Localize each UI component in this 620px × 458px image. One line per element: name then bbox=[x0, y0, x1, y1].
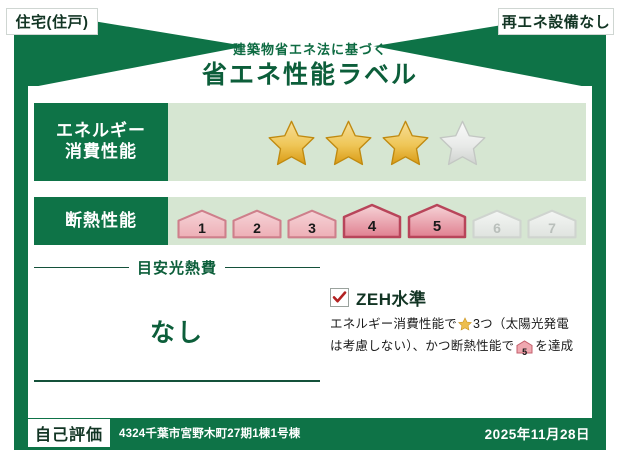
rule-right bbox=[225, 267, 320, 268]
issue-date: 2025年11月28日 bbox=[485, 423, 590, 443]
insulation-level-badge: 6 bbox=[471, 209, 523, 239]
insulation-level-value: 5 bbox=[406, 218, 468, 235]
energy-label-line1: エネルギー bbox=[56, 121, 146, 142]
zeh-description: エネルギー消費性能で 3つ（太陽光発電 は考慮しない）、かつ断熱性能で 5を達成 bbox=[330, 315, 578, 361]
rule-left bbox=[34, 267, 129, 268]
star-filled-icon bbox=[324, 119, 373, 166]
star-empty-icon bbox=[438, 119, 487, 166]
evaluation-type-tag: 自己評価 bbox=[28, 419, 110, 447]
insulation-level-value: 4 bbox=[341, 218, 403, 235]
utility-cost-section: 目安光熱費 なし bbox=[34, 253, 320, 413]
renewable-energy-tag: 再エネ設備なし bbox=[498, 8, 614, 35]
insulation-level-badge: 1 bbox=[176, 209, 228, 239]
insulation-level-value: 1 bbox=[176, 220, 228, 236]
insulation-level-badge: 4 bbox=[341, 203, 403, 239]
energy-rating-value bbox=[168, 103, 586, 181]
building-type-tag: 住宅(住戸) bbox=[6, 8, 98, 35]
inline-star-icon bbox=[458, 317, 472, 337]
utility-cost-title: 目安光熱費 bbox=[137, 257, 217, 278]
insulation-performance-row: 断熱性能 1234567 bbox=[34, 197, 586, 245]
label-footer: 自己評価 4324千葉市宮野木町27期1棟1号棟 2025年11月28日 bbox=[14, 416, 606, 450]
insulation-level-badges: 1234567 bbox=[176, 203, 578, 239]
insulation-rating-value: 1234567 bbox=[168, 197, 586, 245]
zeh-title: ZEH水準 bbox=[356, 285, 427, 310]
insulation-level-badge: 2 bbox=[231, 209, 283, 239]
star-filled-icon bbox=[267, 119, 316, 166]
check-icon bbox=[332, 290, 347, 305]
zeh-section: ZEH水準 エネルギー消費性能で 3つ（太陽光発電 は考慮しない）、かつ断熱性能… bbox=[330, 285, 578, 361]
property-address: 4324千葉市宮野木町27期1棟1号棟 bbox=[119, 425, 300, 441]
energy-performance-label-block: エネルギー 消費性能 bbox=[34, 103, 168, 181]
insulation-label: 断熱性能 bbox=[65, 211, 137, 232]
utility-cost-value: なし bbox=[34, 313, 320, 349]
energy-performance-label: 住宅(住戸) 再エネ設備なし 建築物省エネ法に基づく 省エネ性能ラベル エネルギ… bbox=[0, 0, 620, 458]
insulation-level-value: 2 bbox=[231, 220, 283, 236]
insulation-level-badge: 7 bbox=[526, 209, 578, 239]
zeh-checkbox[interactable] bbox=[330, 288, 349, 307]
insulation-level-value: 7 bbox=[526, 220, 578, 236]
zeh-heading: ZEH水準 bbox=[330, 285, 578, 310]
insulation-level-value: 6 bbox=[471, 220, 523, 236]
insulation-level-value: 3 bbox=[286, 220, 338, 236]
insulation-level-badge: 3 bbox=[286, 209, 338, 239]
zeh-desc-part4: を達成 bbox=[535, 339, 573, 353]
energy-performance-row: エネルギー 消費性能 bbox=[34, 103, 586, 181]
utility-cost-bottom-rule bbox=[34, 380, 320, 382]
inline-level-badge: 5 bbox=[516, 340, 533, 360]
inline-level-badge-value: 5 bbox=[516, 346, 533, 360]
energy-label-line2: 消費性能 bbox=[65, 142, 137, 163]
insulation-level-badge: 5 bbox=[406, 203, 468, 239]
zeh-desc-part3: は考慮しない）、かつ断熱性能で bbox=[330, 339, 514, 353]
zeh-desc-part2: 3つ（太陽光発電 bbox=[473, 317, 569, 331]
star-rating bbox=[267, 119, 487, 166]
insulation-performance-label-block: 断熱性能 bbox=[34, 197, 168, 245]
star-filled-icon bbox=[381, 119, 430, 166]
zeh-desc-part1: エネルギー消費性能で bbox=[330, 317, 457, 331]
utility-cost-heading: 目安光熱費 bbox=[34, 257, 320, 278]
